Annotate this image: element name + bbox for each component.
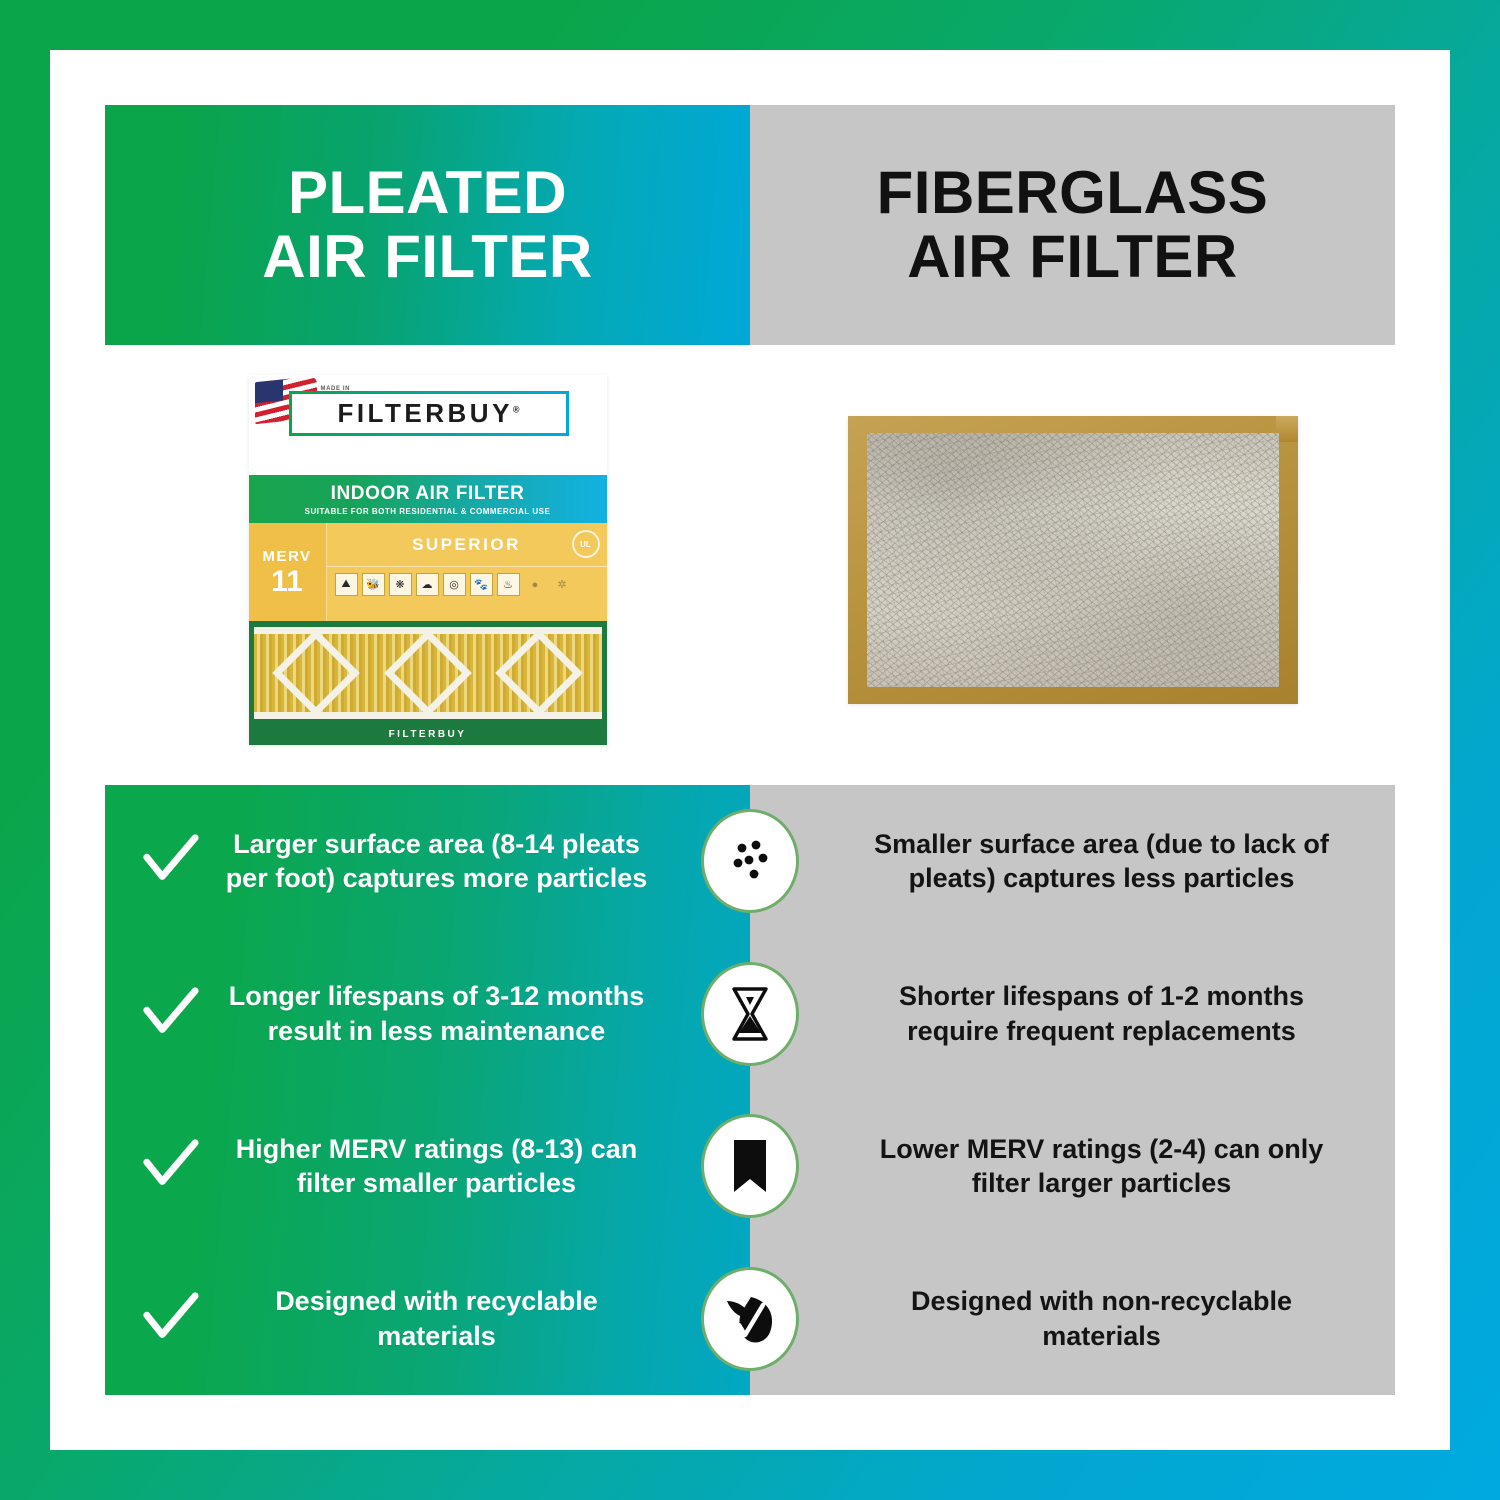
ul-certification-label: UL bbox=[580, 540, 591, 549]
header-fiberglass: FIBERGLASS AIR FILTER bbox=[750, 105, 1395, 345]
row-icon-badge bbox=[701, 809, 799, 913]
header-pleated-line1: PLEATED bbox=[288, 159, 567, 226]
comparison-right-cell: Lower MERV ratings (2-4) can only filter… bbox=[750, 1090, 1395, 1243]
header-fiberglass-title: FIBERGLASS AIR FILTER bbox=[877, 161, 1269, 289]
smoke-icon: ♨ bbox=[497, 573, 520, 596]
package-footer-band: FILTERBUY bbox=[249, 723, 607, 745]
mold-spore-icon: ☁ bbox=[416, 573, 439, 596]
comparison-left-text: Larger surface area (8-14 pleats per foo… bbox=[215, 827, 658, 896]
pet-dander-icon: 🐾 bbox=[470, 573, 493, 596]
particles-icon bbox=[707, 815, 793, 907]
package-banner-title: INDOOR AIR FILTER bbox=[331, 483, 525, 505]
support-diamond bbox=[495, 629, 583, 717]
header-pleated-title: PLEATED AIR FILTER bbox=[262, 161, 593, 289]
comparison-rows: Larger surface area (8-14 pleats per foo… bbox=[105, 785, 1395, 1395]
header-pleated: PLEATED AIR FILTER bbox=[105, 105, 750, 345]
comparison-left-text: Higher MERV ratings (8-13) can filter sm… bbox=[215, 1132, 658, 1201]
pollen-icon: ❋ bbox=[389, 573, 412, 596]
brand-logo-box: FILTERBUY® bbox=[289, 391, 569, 436]
comparison-right-cell: Shorter lifespans of 1-2 months require … bbox=[750, 938, 1395, 1091]
feature-icon-row: ⛰ 🐝 ❋ ☁ ◎ 🐾 ♨ ● ✲ bbox=[335, 573, 601, 617]
comparison-left-cell: Designed with recyclable materials bbox=[105, 1243, 750, 1396]
checkmark-icon bbox=[139, 1288, 201, 1350]
header-fiberglass-line1: FIBERGLASS bbox=[877, 159, 1269, 226]
row-icon-badge bbox=[701, 962, 799, 1066]
comparison-band: Larger surface area (8-14 pleats per foo… bbox=[105, 785, 1395, 1395]
merv-label: MERV bbox=[262, 548, 311, 565]
support-diamonds bbox=[254, 627, 602, 719]
row-icon-badge bbox=[701, 1267, 799, 1371]
header-pleated-line2: AIR FILTER bbox=[262, 225, 593, 289]
support-diamond bbox=[272, 629, 360, 717]
bookmark-ribbon-icon bbox=[707, 1120, 793, 1212]
checkmark-icon bbox=[139, 1135, 201, 1197]
header-band: PLEATED AIR FILTER FIBERGLASS AIR FILTER bbox=[105, 105, 1395, 345]
comparison-row: Longer lifespans of 3-12 months result i… bbox=[105, 938, 1395, 1091]
support-diamond bbox=[384, 629, 472, 717]
fiberglass-product-cell bbox=[750, 345, 1395, 775]
tier-label: SUPERIOR bbox=[412, 535, 521, 555]
comparison-row: Larger surface area (8-14 pleats per foo… bbox=[105, 785, 1395, 938]
brand-name: FILTERBUY bbox=[337, 398, 512, 428]
comparison-right-text: Designed with non-recyclable materials bbox=[850, 1284, 1353, 1353]
comparison-left-text: Longer lifespans of 3-12 months result i… bbox=[215, 979, 658, 1048]
package-banner: INDOOR AIR FILTER SUITABLE FOR BOTH RESI… bbox=[249, 475, 607, 523]
fiberglass-filter-image bbox=[848, 416, 1298, 704]
merv-value: 11 bbox=[271, 567, 303, 597]
comparison-row: Higher MERV ratings (8-13) can filter sm… bbox=[105, 1090, 1395, 1243]
comparison-right-cell: Designed with non-recyclable materials bbox=[750, 1243, 1395, 1396]
comparison-row: Designed with recyclable materials Desig… bbox=[105, 1243, 1395, 1396]
dust-icon: ⛰ bbox=[335, 573, 358, 596]
merv-badge: MERV 11 bbox=[249, 523, 327, 621]
package-gold-section: MERV 11 SUPERIOR UL ⛰ 🐝 ❋ ☁ ◎ bbox=[249, 523, 607, 621]
comparison-right-text: Shorter lifespans of 1-2 months require … bbox=[850, 979, 1353, 1048]
ul-certification-icon: UL bbox=[572, 530, 600, 558]
package-banner-subtitle: SUITABLE FOR BOTH RESIDENTIAL & COMMERCI… bbox=[305, 507, 551, 516]
leaf-eco-icon bbox=[707, 1273, 793, 1365]
row-icon-badge bbox=[701, 1114, 799, 1218]
pleated-media-area: FILTERBUY bbox=[249, 621, 607, 745]
pleated-filter-package-image: MADE IN THE USA FILTERBUY® INDOOR AIR FI… bbox=[249, 375, 607, 745]
infographic-canvas: PLEATED AIR FILTER FIBERGLASS AIR FILTER… bbox=[105, 105, 1395, 1395]
hourglass-icon bbox=[707, 968, 793, 1060]
comparison-left-text: Designed with recyclable materials bbox=[215, 1284, 658, 1353]
package-footer-brand: FILTERBUY bbox=[389, 729, 467, 740]
checkmark-icon bbox=[139, 983, 201, 1045]
comparison-left-cell: Larger surface area (8-14 pleats per foo… bbox=[105, 785, 750, 938]
cardboard-corner-tab bbox=[1276, 416, 1298, 442]
comparison-right-cell: Smaller surface area (due to lack of ple… bbox=[750, 785, 1395, 938]
odor-icon: ● bbox=[524, 573, 547, 596]
pleated-product-cell: MADE IN THE USA FILTERBUY® INDOOR AIR FI… bbox=[105, 345, 750, 775]
checkmark-icon bbox=[139, 830, 201, 892]
comparison-right-text: Smaller surface area (due to lack of ple… bbox=[850, 827, 1353, 896]
comparison-left-cell: Higher MERV ratings (8-13) can filter sm… bbox=[105, 1090, 750, 1243]
tier-band: SUPERIOR bbox=[327, 523, 607, 567]
header-fiberglass-line2: AIR FILTER bbox=[877, 225, 1269, 289]
brand-logo-text: FILTERBUY® bbox=[337, 398, 519, 429]
comparison-left-cell: Longer lifespans of 3-12 months result i… bbox=[105, 938, 750, 1091]
trademark-symbol: ® bbox=[513, 404, 520, 414]
gold-pleat-field bbox=[254, 627, 602, 719]
virus-icon: ✲ bbox=[551, 573, 574, 596]
bacteria-icon: ◎ bbox=[443, 573, 466, 596]
product-image-band: MADE IN THE USA FILTERBUY® INDOOR AIR FI… bbox=[105, 345, 1395, 775]
insect-icon: 🐝 bbox=[362, 573, 385, 596]
fiberglass-media-surface bbox=[867, 433, 1279, 687]
comparison-right-text: Lower MERV ratings (2-4) can only filter… bbox=[850, 1132, 1353, 1201]
